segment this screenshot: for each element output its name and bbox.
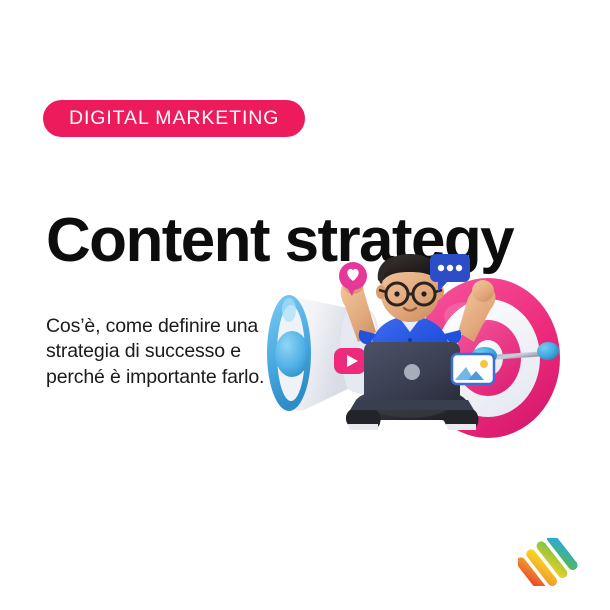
slide-canvas: DIGITAL MARKETING Content strategy Cos’è…: [0, 0, 610, 610]
category-badge-label: DIGITAL MARKETING: [69, 109, 279, 129]
play-button-badge: [334, 348, 366, 374]
subtitle-text: Cos’è, come definire una strategia di su…: [46, 314, 271, 392]
category-badge: DIGITAL MARKETING: [43, 100, 305, 137]
brand-logo: [518, 538, 580, 586]
image-card: [452, 354, 494, 384]
content-strategy-illustration: [252, 250, 570, 455]
